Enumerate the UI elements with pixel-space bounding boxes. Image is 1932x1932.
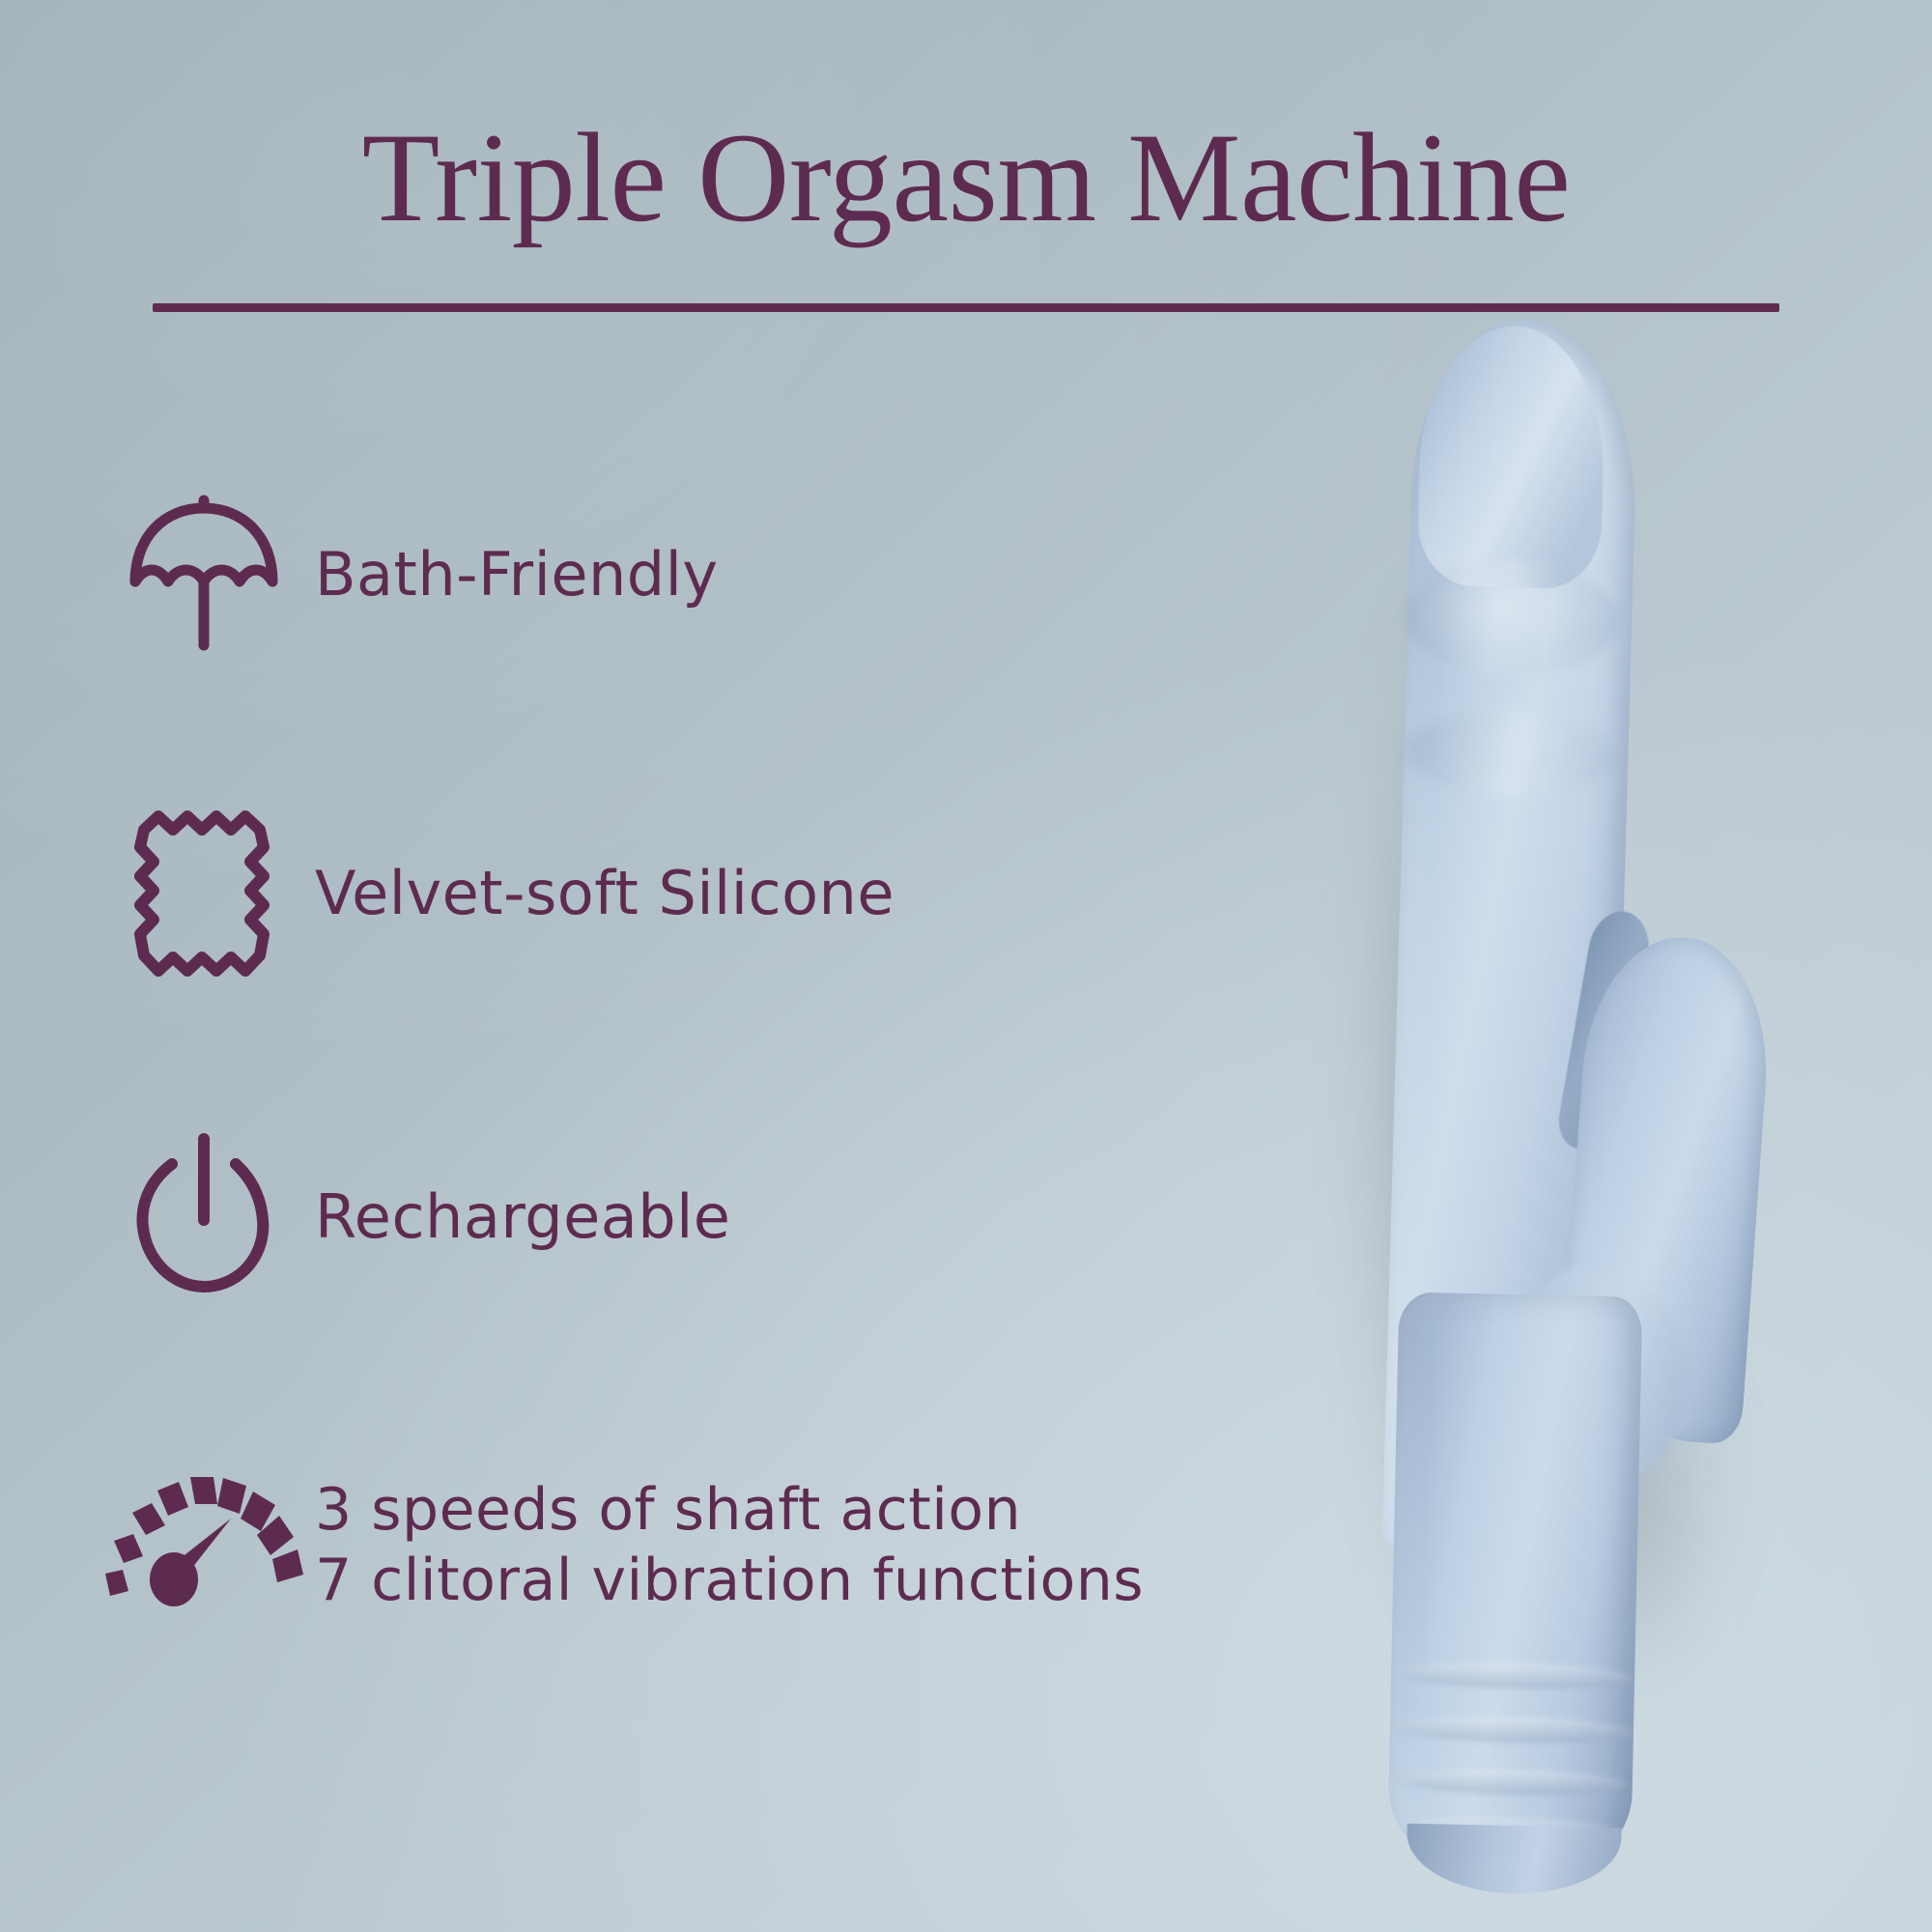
product-handle — [1387, 1292, 1643, 1886]
feature-item-silicone: Velvet-soft Silicone — [93, 802, 895, 985]
feature-item-rechargeable: Rechargeable — [93, 1125, 730, 1309]
feature-label: 3 speeds of shaft action 7 clitoral vibr… — [315, 1475, 1144, 1616]
fabric-swatch-icon — [93, 802, 315, 985]
product-image: Light blue rabbit-style vibrator with te… — [1285, 319, 1922, 1922]
feature-item-bath-friendly: Bath-Friendly — [93, 483, 719, 667]
feature-item-speeds: 3 speeds of shaft action 7 clitoral vibr… — [93, 1454, 1144, 1637]
title-divider — [153, 303, 1779, 312]
speedometer-icon — [93, 1454, 315, 1637]
feature-label: Velvet-soft Silicone — [315, 855, 895, 931]
umbrella-icon — [93, 483, 315, 667]
power-icon — [93, 1125, 315, 1309]
feature-label: Rechargeable — [315, 1179, 730, 1255]
product-infographic: Triple Orgasm Machine Bath-Friendly — [0, 0, 1932, 1932]
product-alt-text: Light blue rabbit-style vibrator with te… — [1285, 319, 1286, 320]
page-title: Triple Orgasm Machine — [0, 114, 1932, 241]
feature-label: Bath-Friendly — [315, 536, 719, 612]
